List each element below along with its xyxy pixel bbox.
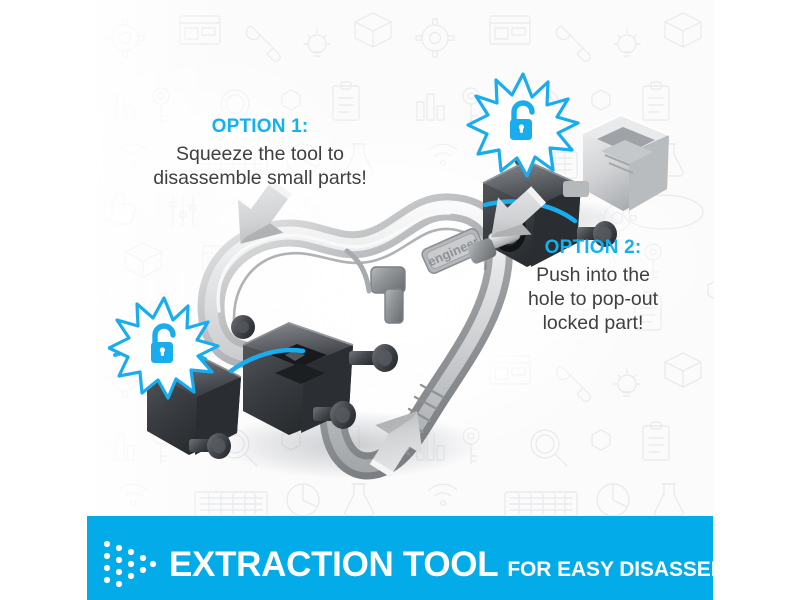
option-2-heading: OPTION 2: xyxy=(498,236,688,259)
banner-subtitle: FOR EASY DISASSEMBLY xyxy=(507,558,713,581)
infographic-canvas: engineer xyxy=(0,0,800,600)
callout-option-2: OPTION 2: Push into the hole to pop-out … xyxy=(498,236,688,336)
option-1-heading: OPTION 1: xyxy=(135,115,385,138)
banner-title: EXTRACTION TOOL xyxy=(169,545,498,584)
option-2-line-3: locked part! xyxy=(498,312,688,336)
banner-text-group: EXTRACTION TOOLFOR EASY DISASSEMBLY xyxy=(169,545,713,585)
banner-content: EXTRACTION TOOLFOR EASY DISASSEMBLY xyxy=(87,516,713,600)
option-2-line-2: hole to pop-out xyxy=(498,288,688,312)
bottom-banner: EXTRACTION TOOLFOR EASY DISASSEMBLY xyxy=(87,516,713,600)
option-2-line-1: Push into the xyxy=(498,264,688,288)
dot-chevron-icon xyxy=(99,538,161,590)
option-1-line-2: disassemble small parts! xyxy=(135,167,385,191)
callout-option-1: OPTION 1: Squeeze the tool to disassembl… xyxy=(135,115,385,191)
option-1-line-1: Squeeze the tool to xyxy=(135,143,385,167)
